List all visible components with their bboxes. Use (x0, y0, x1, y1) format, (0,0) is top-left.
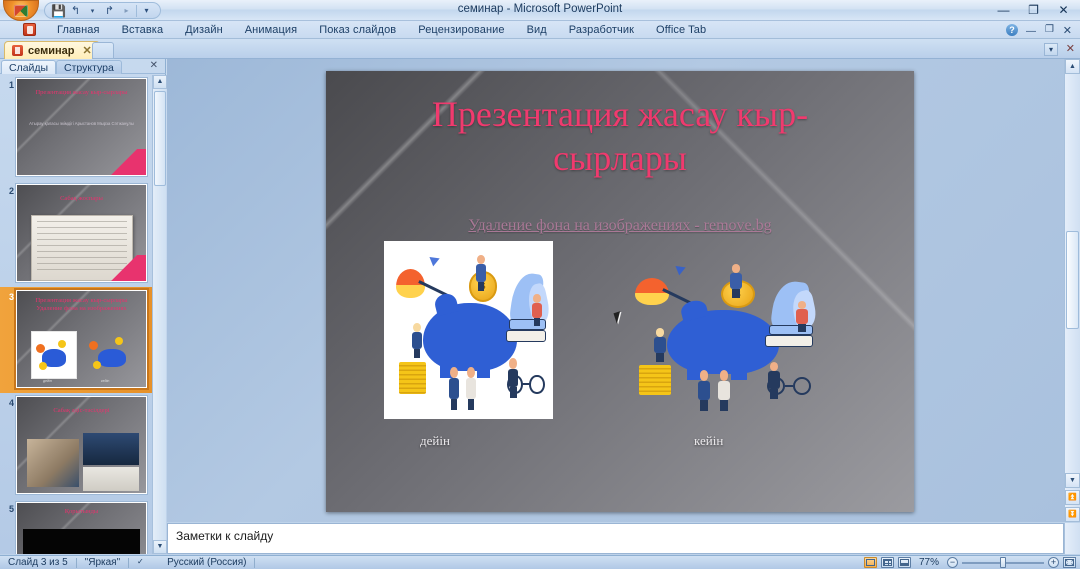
notes-pane[interactable]: Заметки к слайду (167, 523, 1064, 554)
thumb-title: Сабақ әдіс-тәсілдері (25, 407, 138, 415)
previous-slide-button[interactable]: ⏫ (1065, 490, 1080, 505)
thumb-image-after (87, 331, 137, 379)
zoom-level[interactable]: 77% (915, 557, 943, 568)
person-figure (475, 255, 487, 291)
coin-stack-icon (639, 365, 671, 395)
ribbon-tab-insert[interactable]: Вставка (111, 23, 175, 37)
slide-thumbnail-list[interactable]: 1 Презентация жасау кыр-сырлары Атырау қ… (0, 75, 152, 554)
close-pane-icon[interactable]: ✕ (150, 60, 158, 71)
book-shape (506, 330, 547, 342)
next-slide-button[interactable]: ⏬ (1065, 507, 1080, 522)
thumbnail-image: Қорытынды (16, 502, 147, 554)
scrollbar-thumb[interactable] (154, 91, 166, 186)
person-figure (448, 367, 460, 410)
zoom-slider-handle[interactable] (1000, 557, 1006, 568)
spell-check-icon[interactable]: ✓ (129, 556, 159, 569)
thumb-image-before (31, 331, 77, 379)
thumb-title: Сабақ жоспары (25, 195, 138, 203)
document-tab-bar: семинар ✕ ▾ ✕ (0, 39, 1080, 59)
thumb-title: Презентация жасау кыр-сырлары (25, 89, 138, 97)
thumbnail-image: Презентация жасау кыр-сырлары Удаление ф… (16, 290, 147, 388)
slide-thumbnail-2[interactable]: 2 Сабақ жоспары (0, 181, 152, 287)
svg-text:✓: ✓ (137, 557, 144, 566)
person-figure (697, 370, 711, 410)
ribbon-tab-design[interactable]: Дизайн (174, 23, 234, 37)
book-shape (765, 335, 813, 347)
help-icon[interactable]: ? (1006, 24, 1018, 36)
slide-number: 4 (2, 398, 14, 408)
ribbon-tab-office-tab[interactable]: Office Tab (645, 23, 717, 37)
person-figure (411, 323, 423, 359)
language-indicator[interactable]: Русский (Россия) (159, 557, 254, 568)
slide-thumbnail-4[interactable]: 4 Сабақ әдіс-тәсілдері (0, 393, 152, 499)
scroll-down-icon[interactable]: ▼ (153, 540, 167, 554)
slide-show-view-button[interactable] (898, 557, 911, 568)
slide-counter[interactable]: Слайд 3 из 5 (0, 557, 76, 568)
theme-name[interactable]: "Яркая" (77, 557, 128, 568)
slide-number: 1 (2, 80, 14, 90)
thumb-subtitle: Атырау қаласы әкімдігі Арыстанов Мырза С… (29, 121, 134, 127)
thumbnail-image: Сабақ әдіс-тәсілдері (16, 396, 147, 494)
paper-plane-icon (430, 254, 442, 267)
ribbon-tab-animation[interactable]: Анимация (234, 23, 308, 37)
slide-thumbnail-5[interactable]: 5 Қорытынды (0, 499, 152, 554)
slide-thumbnail-3[interactable]: 3 Презентация жасау кыр-сырлары Удаление… (0, 287, 152, 393)
close-icon[interactable]: ✕ (82, 44, 91, 57)
presentation-file-icon (12, 45, 23, 56)
document-tab-label: семинар (28, 45, 74, 57)
person-figure (653, 328, 667, 362)
ribbon-tab-developer[interactable]: Разработчик (558, 23, 645, 37)
thumb-caption-after: кейін (101, 379, 109, 383)
ribbon-close-icon[interactable]: ✕ (1063, 24, 1072, 37)
close-all-tabs-icon[interactable]: ✕ (1066, 42, 1075, 55)
current-slide[interactable]: Презентация жасау кыр-сырлары Удаление ф… (326, 71, 914, 512)
slide-number: 3 (2, 292, 14, 302)
ribbon-tab-slideshow[interactable]: Показ слайдов (308, 23, 407, 37)
slide-sorter-view-button[interactable] (881, 557, 894, 568)
thumb-video-frame (23, 529, 140, 554)
ribbon-tab-home[interactable]: Главная (46, 23, 111, 37)
corner-accent (108, 255, 146, 281)
caption-after[interactable]: кейін (694, 433, 723, 449)
person-figure (465, 367, 477, 410)
thumb-caption-before: дейін (43, 379, 52, 383)
thumb-photo-document (83, 467, 139, 491)
ribbon-tab-review[interactable]: Рецензирование (407, 23, 515, 37)
slide-number: 2 (2, 186, 14, 196)
document-tab-seminar[interactable]: семинар ✕ (4, 41, 100, 59)
title-bar: 💾 ↰ ▾ ↱ ▸ ▾ семинар - Microsoft PowerPoi… (0, 0, 1080, 21)
thumb-title: Презентация жасау кыр-сырлары Удаление ф… (25, 297, 138, 313)
slide-number: 5 (2, 504, 14, 514)
image-after[interactable]: $ (621, 251, 821, 419)
chevron-down-icon[interactable]: ▾ (1044, 43, 1058, 56)
zoom-out-button[interactable]: − (947, 557, 958, 568)
scroll-up-icon[interactable]: ▲ (1065, 59, 1080, 74)
slides-pane-scrollbar[interactable]: ▲ ▼ (152, 75, 166, 554)
slides-pane: Слайды Структура ✕ 1 Презентация жасау к… (0, 59, 166, 554)
coin-stack-icon (399, 362, 426, 394)
restore-button[interactable]: ❐ (1019, 1, 1048, 19)
thumbnail-image: Презентация жасау кыр-сырлары Атырау қал… (16, 78, 147, 176)
person-figure (531, 294, 543, 326)
tab-slides[interactable]: Слайды (1, 60, 56, 74)
person-figure (729, 264, 743, 298)
status-separator (254, 558, 255, 568)
thumb-title: Қорытынды (25, 508, 138, 516)
powerpoint-window: 💾 ↰ ▾ ↱ ▸ ▾ семинар - Microsoft PowerPoi… (0, 0, 1080, 569)
thumbnail-image: Сабақ жоспары (16, 184, 147, 282)
notes-scrollbar[interactable] (1064, 523, 1080, 554)
ribbon-minimize-icon[interactable]: — (1026, 26, 1036, 37)
thumb-photo-screen (83, 433, 139, 465)
powerpoint-app-icon (23, 23, 36, 36)
caption-before[interactable]: дейін (420, 433, 450, 449)
normal-view-button[interactable] (864, 557, 877, 568)
minimize-button[interactable]: — (989, 1, 1018, 19)
status-bar-right: 77% − + (864, 557, 1080, 568)
piggy-leg (731, 364, 747, 381)
slide-thumbnail-1[interactable]: 1 Презентация жасау кыр-сырлары Атырау қ… (0, 75, 152, 181)
new-document-tab-button[interactable] (92, 42, 114, 59)
piggy-leg (477, 360, 491, 378)
image-before[interactable]: $ (384, 241, 553, 419)
scrollbar-thumb[interactable] (1066, 231, 1079, 329)
close-button[interactable]: ✕ (1049, 1, 1078, 19)
window-controls: — ❐ ✕ (989, 1, 1078, 19)
fit-slide-to-window-icon[interactable] (1063, 557, 1076, 568)
corner-accent (108, 149, 146, 175)
zoom-slider[interactable] (962, 557, 1044, 568)
slide-subtitle-link[interactable]: Удаление фона на изображениях - remove.b… (366, 217, 874, 235)
status-bar: Слайд 3 из 5 "Яркая" ✓ Русский (Россия) … (0, 555, 1080, 569)
person-figure (767, 362, 781, 399)
person-figure (717, 370, 731, 410)
paper-plane-icon (675, 263, 687, 276)
ribbon-tab-view[interactable]: Вид (516, 23, 558, 37)
slide-editing-area[interactable]: Презентация жасау кыр-сырлары Удаление ф… (167, 59, 1064, 522)
scroll-up-icon[interactable]: ▲ (153, 75, 167, 89)
zoom-in-button[interactable]: + (1048, 557, 1059, 568)
tab-outline[interactable]: Структура (56, 60, 122, 74)
thumb-photo-classroom (27, 439, 79, 487)
scroll-down-icon[interactable]: ▼ (1065, 473, 1080, 488)
ribbon-tab-bar: Главная Вставка Дизайн Анимация Показ сл… (0, 21, 1080, 39)
ribbon-restore-icon[interactable]: ❐ (1045, 24, 1054, 35)
slide-title-text[interactable]: Презентация жасау кыр-сырлары (366, 93, 874, 181)
person-figure (507, 358, 519, 397)
person-figure (795, 301, 809, 331)
window-title: семинар - Microsoft PowerPoint (0, 3, 1080, 15)
slides-pane-tabs: Слайды Структура ✕ (0, 59, 166, 74)
slide-area-scrollbar[interactable]: ▲ ▼ ⏫ ⏬ (1064, 59, 1080, 522)
